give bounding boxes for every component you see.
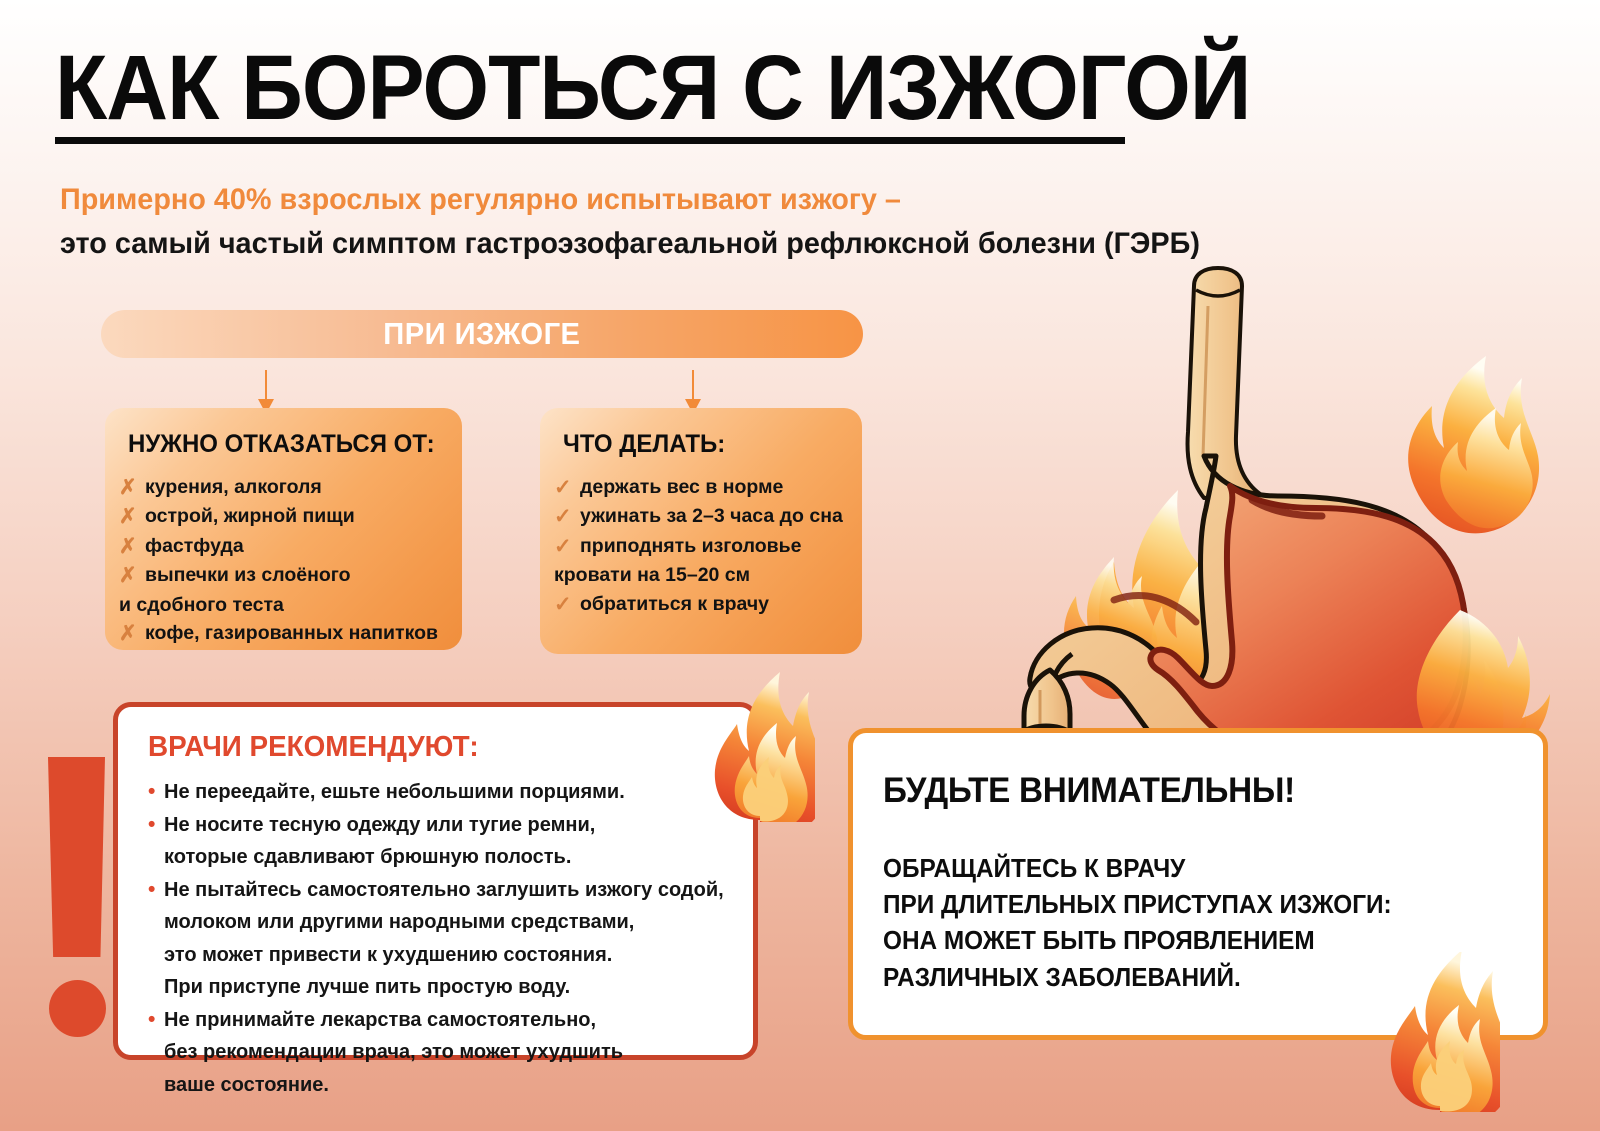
page-title: КАК БОРОТЬСЯ С ИЗЖОГОЙ [55,46,1055,131]
cross-icon: ✗ [119,502,145,531]
list-item-label: фастфуда [145,532,244,561]
attention-text-line: ОБРАЩАЙТЕСЬ К ВРАЧУ [883,851,1485,887]
cross-icon: ✗ [119,561,145,590]
check-icon: ✓ [554,502,580,531]
list-item-label: острой, жирной пищи [145,502,355,531]
card-avoid-list: ✗курения, алкоголя✗острой, жирной пищи✗ф… [119,473,446,649]
list-item: •При приступе лучше пить простую воду. [148,971,727,1004]
card-attention-body: ОБРАЩАЙТЕСЬ К ВРАЧУПРИ ДЛИТЕЛЬНЫХ ПРИСТУ… [883,851,1513,996]
card-avoid: НУЖНО ОТКАЗАТЬСЯ ОТ: ✗курения, алкоголя✗… [105,408,462,650]
check-icon: ✓ [554,532,580,561]
list-item-label: приподнять изголовье [580,532,801,561]
list-item: •без рекомендации врача, это может ухудш… [148,1036,727,1069]
cross-icon: ✗ [119,532,145,561]
list-item-label: держать вес в норме [580,473,783,502]
exclamation-dot [49,980,106,1037]
bullet-icon: • [148,776,164,809]
list-item-label: кровати на 15–20 см [554,561,750,590]
bullet-icon: • [148,874,164,907]
list-item: •которые сдавливают брюшную полость. [148,841,727,874]
list-item: ✗выпечки из слоёного [119,561,446,590]
arrow-down-icon-right [692,370,694,400]
list-item-label: без рекомендации врача, это может ухудши… [164,1036,623,1068]
attention-text-line: ПРИ ДЛИТЕЛЬНЫХ ПРИСТУПАХ ИЗЖОГИ: [883,887,1485,923]
list-item: ✓держать вес в норме [554,473,846,502]
flame-icon [1391,356,1539,770]
list-item: ✓приподнять изголовье [554,532,846,561]
list-item-label: Не переедайте, ешьте небольшими порциями… [164,776,625,808]
card-doctors-recommend: ВРАЧИ РЕКОМЕНДУЮТ: •Не переедайте, ешьте… [113,702,758,1060]
list-item-label: ужинать за 2–3 часа до сна [580,502,843,531]
banner-pri-izzhoge: ПРИ ИЗЖОГЕ [101,310,863,358]
list-item-label: Не носите тесную одежду или тугие ремни, [164,809,595,841]
card-attention-title: БУДЬТЕ ВНИМАТЕЛЬНЫ! [883,771,1482,811]
list-item-label: и сдобного теста [119,591,284,620]
list-item: •Не переедайте, ешьте небольшими порциям… [148,776,727,809]
list-item-label: обратиться к врачу [580,590,769,619]
bullet-icon: • [148,1004,164,1037]
card-doctors-list: •Не переедайте, ешьте небольшими порциям… [148,776,727,1101]
list-item-label: которые сдавливают брюшную полость. [164,841,571,873]
list-item: •это может привести к ухудшению состояни… [148,939,727,972]
list-item: и сдобного теста [119,591,446,620]
card-be-attentive: БУДЬТЕ ВНИМАТЕЛЬНЫ! ОБРАЩАЙТЕСЬ К ВРАЧУП… [848,728,1548,1040]
card-do-list: ✓держать вес в норме✓ужинать за 2–3 часа… [554,473,846,619]
list-item-label: ваше состояние. [164,1069,329,1101]
cross-icon: ✗ [119,473,145,502]
card-doctors-title: ВРАЧИ РЕКОМЕНДУЮТ: [148,731,704,764]
list-item: ✗кофе, газированных напитков [119,619,446,648]
check-icon: ✓ [554,590,580,619]
list-item: •молоком или другими народными средствам… [148,906,727,939]
list-item-label: выпечки из слоёного [145,561,351,590]
list-item-label: кофе, газированных напитков [145,619,438,648]
list-item: кровати на 15–20 см [554,561,846,590]
list-item: •Не пытайтесь самостоятельно заглушить и… [148,874,727,907]
exclamation-mark-icon [45,757,107,1037]
bullet-icon: • [148,809,164,842]
list-item-label: курения, алкоголя [145,473,322,502]
cross-icon: ✗ [119,619,145,648]
subtitle-block: Примерно 40% взрослых регулярно испытыва… [60,178,1560,265]
list-item: •ваше состояние. [148,1069,727,1102]
banner-label: ПРИ ИЗЖОГЕ [383,316,580,352]
list-item-label: это может привести к ухудшению состояния… [164,939,612,971]
card-do: ЧТО ДЕЛАТЬ: ✓держать вес в норме✓ужинать… [540,408,862,654]
flame-icon [1064,490,1257,721]
arrow-down-icon-left [265,370,267,400]
check-icon: ✓ [554,473,580,502]
list-item: ✓ужинать за 2–3 часа до сна [554,502,846,531]
list-item: ✗курения, алкоголя [119,473,446,502]
list-item-label: При приступе лучше пить простую воду. [164,971,570,1003]
list-item: •Не носите тесную одежду или тугие ремни… [148,809,727,842]
list-item-label: молоком или другими народными средствами… [164,906,634,938]
list-item: ✗острой, жирной пищи [119,502,446,531]
attention-text-line: РАЗЛИЧНЫХ ЗАБОЛЕВАНИЙ. [883,960,1485,996]
subtitle-line-1: Примерно 40% взрослых регулярно испытыва… [60,178,1500,222]
list-item: •Не принимайте лекарства самостоятельно, [148,1004,727,1037]
list-item-label: Не пытайтесь самостоятельно заглушить из… [164,874,724,906]
list-item: ✗фастфуда [119,532,446,561]
list-item-label: Не принимайте лекарства самостоятельно, [164,1004,596,1036]
subtitle-line-2: это самый частый симптом гастроэзофагеал… [60,222,1500,266]
attention-text-line: ОНА МОЖЕТ БЫТЬ ПРОЯВЛЕНИЕМ [883,923,1485,959]
list-item: ✓обратиться к врачу [554,590,846,619]
card-do-title: ЧТО ДЕЛАТЬ: [563,430,835,459]
stomach-illustration [900,250,1600,770]
exclamation-bar [48,757,105,957]
title-block: КАК БОРОТЬСЯ С ИЗЖОГОЙ [55,46,1130,144]
card-avoid-title: НУЖНО ОТКАЗАТЬСЯ ОТ: [128,430,433,459]
